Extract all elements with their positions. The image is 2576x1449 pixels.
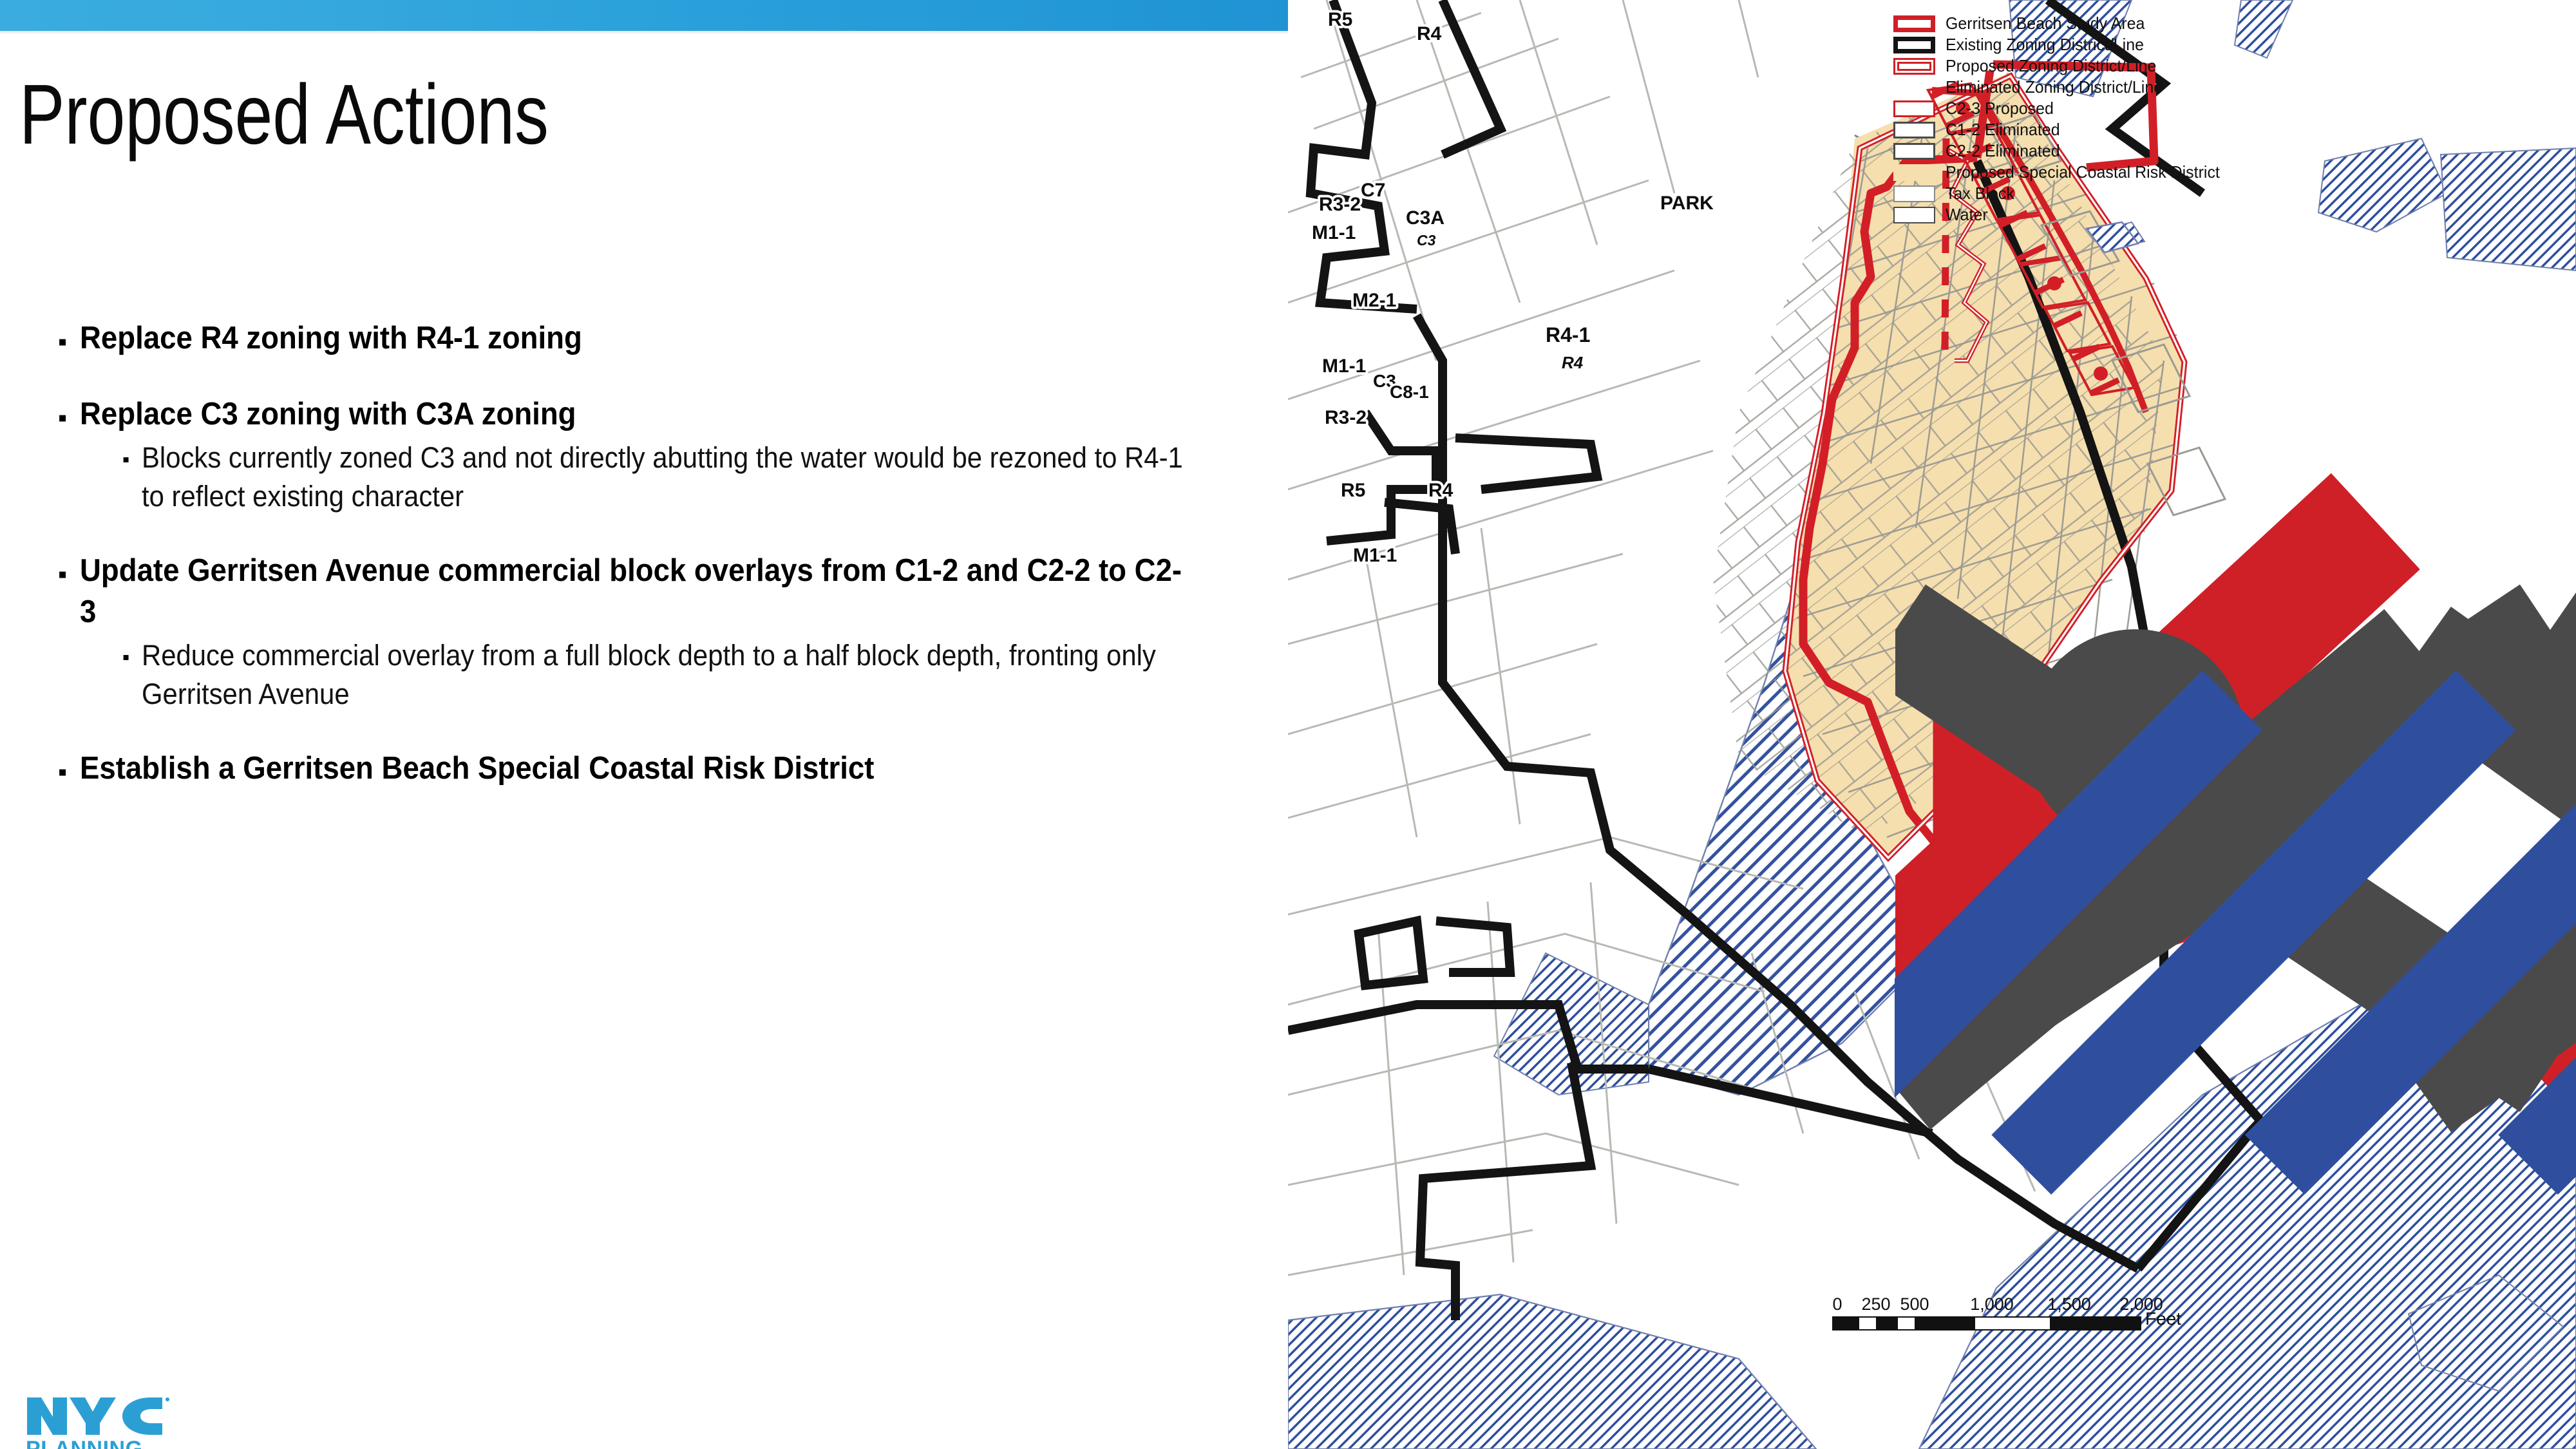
- spacer: [58, 714, 1282, 748]
- legend-label: Proposed Special Coastal Risk District: [1946, 162, 2220, 182]
- sub-bullet-item: ▪ Reduce commercial overlay from a full …: [122, 636, 1282, 714]
- legend-swatch-water: [1893, 207, 1935, 223]
- scale-units-label: Feet: [2145, 1309, 2181, 1329]
- zone-label: R4: [1428, 480, 1454, 501]
- bullet-text: Replace C3 zoning with C3A zoning: [80, 394, 1197, 435]
- legend-swatch-c2-3: [1893, 100, 1935, 117]
- bullet-square-icon: ▪: [58, 551, 80, 591]
- spacer: [58, 516, 1282, 551]
- legend-label: C2-2 Eliminated: [1946, 141, 2060, 161]
- legend-swatch-coastal-risk: [1893, 164, 1935, 181]
- zone-label: M2-1: [1352, 290, 1396, 311]
- bullet-square-icon: ▪: [58, 394, 80, 434]
- zone-label: M1-1: [1353, 545, 1397, 566]
- legend-label: Proposed Zoning District/Line: [1946, 56, 2156, 76]
- legend-swatch-eliminated: [1893, 79, 1935, 96]
- scale-bar-graphic: [1832, 1316, 2141, 1331]
- scale-tick: 1,500: [2047, 1294, 2091, 1314]
- zone-label: M1-1: [1312, 222, 1356, 243]
- bullet-text: Establish a Gerritsen Beach Special Coas…: [80, 748, 1197, 790]
- bullet-text: Update Gerritsen Avenue commercial block…: [80, 551, 1197, 632]
- zone-label: PARK: [1660, 193, 1714, 214]
- legend-label: C2-3 Proposed: [1946, 99, 2054, 118]
- bullet-square-icon: ▪: [58, 748, 80, 788]
- sub-bullet-square-icon: ▪: [122, 636, 142, 670]
- legend-swatch-c1-2: [1893, 122, 1935, 138]
- legend-item-eliminated: Eliminated Zoning District/Line: [1893, 77, 2550, 98]
- map-legend: Gerritsen Beach Study Area Existing Zoni…: [1893, 13, 2550, 225]
- legend-swatch-existing-zone: [1893, 37, 1935, 53]
- content-pane: Proposed Actions ▪ Replace R4 zoning wit…: [0, 35, 1288, 1449]
- legend-label: Eliminated Zoning District/Line: [1946, 77, 2163, 97]
- legend-swatch-c2-2: [1893, 143, 1935, 160]
- bullet-list: ▪ Replace R4 zoning with R4-1 zoning ▪ R…: [58, 318, 1282, 790]
- map-scale-bar: 0 250 500 1,000 1,500 2,000 Feet: [1832, 1294, 2141, 1331]
- bullet-square-icon: ▪: [58, 318, 80, 358]
- north-arrow-icon: [2205, 1294, 2260, 1376]
- zone-label: R4: [1562, 353, 1584, 372]
- scale-tick: 0: [1832, 1294, 1842, 1314]
- svg-text:PLANNING: PLANNING: [26, 1437, 143, 1449]
- sub-bullet-list: ▪ Blocks currently zoned C3 and not dire…: [122, 439, 1282, 516]
- scale-tick: 1,000: [1970, 1294, 2014, 1314]
- bullet-item: ▪ Update Gerritsen Avenue commercial blo…: [58, 551, 1282, 714]
- legend-label: Existing Zoning District/Line: [1946, 35, 2144, 55]
- scale-tick-labels: 0 250 500 1,000 1,500 2,000: [1832, 1294, 2141, 1316]
- zone-label: R3-2: [1325, 407, 1367, 428]
- legend-swatch-proposed-zone: [1893, 58, 1935, 75]
- legend-label: Water: [1946, 205, 1988, 225]
- sub-bullet-square-icon: ▪: [122, 439, 142, 472]
- bullet-text: Replace R4 zoning with R4-1 zoning: [80, 318, 1197, 359]
- sub-bullet-item: ▪ Blocks currently zoned C3 and not dire…: [122, 439, 1282, 516]
- zoning-map[interactable]: R5R5R4R4C7C7R3-2R3-2M1-1M1-1C3AC3AC3C3M2…: [1288, 0, 2576, 1449]
- legend-item-proposed-zone: Proposed Zoning District/Line: [1893, 55, 2550, 77]
- zone-label: C3A: [1406, 207, 1444, 229]
- legend-swatch-tax-block: [1893, 185, 1935, 202]
- zone-label: R3-2: [1319, 194, 1361, 215]
- zone-label: R5: [1341, 480, 1365, 501]
- header-accent-bar: [0, 0, 1309, 31]
- zone-label: R4: [1417, 23, 1442, 44]
- legend-item-water: Water: [1893, 204, 2550, 225]
- legend-label: C1-2 Eliminated: [1946, 120, 2060, 140]
- sub-bullet-text: Blocks currently zoned C3 and not direct…: [142, 439, 1202, 516]
- sub-bullet-list: ▪ Reduce commercial overlay from a full …: [122, 636, 1282, 714]
- sub-bullet-text: Reduce commercial overlay from a full bl…: [142, 636, 1202, 714]
- zone-label: C8-1: [1390, 382, 1429, 402]
- slide-root: Proposed Actions ▪ Replace R4 zoning wit…: [0, 0, 2576, 1449]
- legend-item-existing-zone: Existing Zoning District/Line: [1893, 34, 2550, 55]
- legend-label: Gerritsen Beach Study Area: [1946, 14, 2145, 33]
- scale-tick: 500: [1900, 1294, 1929, 1314]
- zone-label: R4-1: [1546, 323, 1590, 346]
- legend-swatch-study-area: [1893, 15, 1935, 32]
- page-title: Proposed Actions: [19, 72, 549, 157]
- zone-label: M1-1: [1322, 355, 1366, 377]
- nyc-planning-logo: PLANNING: [24, 1392, 192, 1449]
- zone-label: C3: [1417, 232, 1436, 249]
- bullet-item: ▪ Replace R4 zoning with R4-1 zoning: [58, 318, 1282, 359]
- zone-label: C7: [1361, 180, 1385, 201]
- zone-label: R5: [1328, 9, 1352, 30]
- legend-item-study-area: Gerritsen Beach Study Area: [1893, 13, 2550, 34]
- scale-tick: 250: [1861, 1294, 1890, 1314]
- bullet-item: ▪ Replace C3 zoning with C3A zoning ▪ Bl…: [58, 394, 1282, 516]
- bullet-item: ▪ Establish a Gerritsen Beach Special Co…: [58, 748, 1282, 790]
- legend-label: Tax Block: [1946, 184, 2014, 204]
- spacer: [58, 359, 1282, 394]
